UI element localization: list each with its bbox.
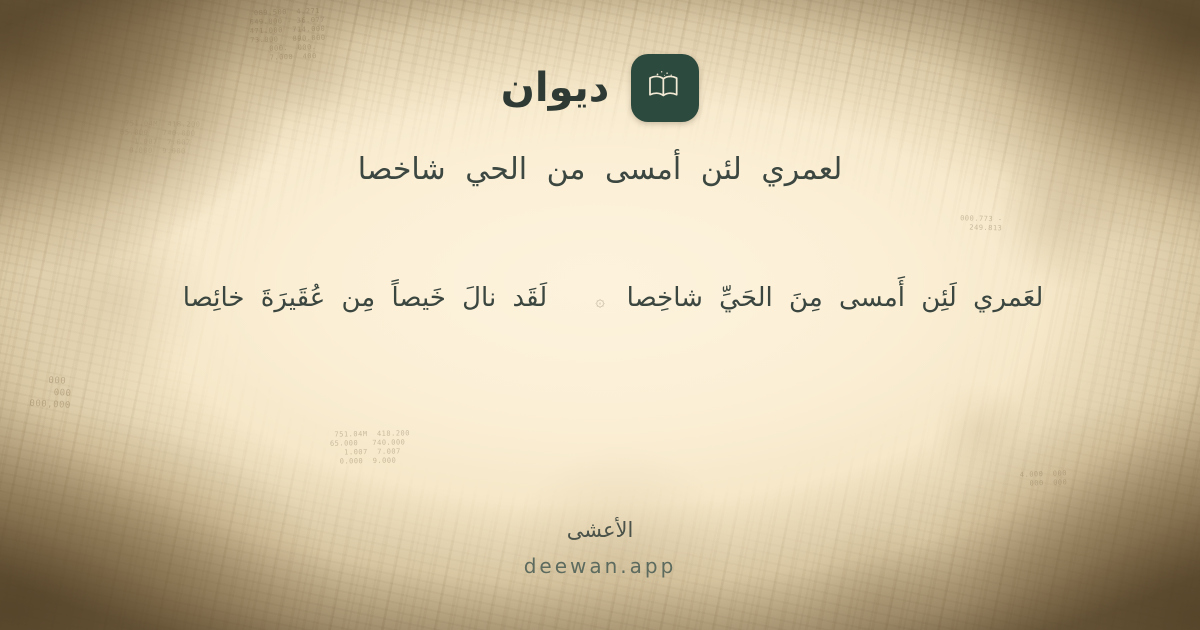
card-content: ديوان — [0, 0, 1200, 630]
page-title: لعمري لئن أمسى من الحي شاخصا — [358, 152, 843, 187]
brand[interactable]: ديوان — [501, 54, 699, 122]
brand-name: ديوان — [501, 68, 609, 108]
poet-name: الأعشى — [0, 518, 1200, 542]
verse: لعَمري لَئِن أَمسى مِنَ الحَيِّ شاخِصا ۞… — [0, 283, 1200, 313]
verse-separator: ۞ — [580, 291, 620, 310]
app-logo[interactable] — [631, 54, 699, 122]
card-footer: الأعشى deewan.app — [0, 518, 1200, 578]
poem-card: 4.271 089.500 36.077 - 649.000 714.000 4… — [0, 0, 1200, 630]
verse-hemistich-first: لعَمري لَئِن أَمسى مِنَ الحَيِّ شاخِصا — [620, 283, 1050, 313]
open-book-icon — [645, 66, 685, 110]
site-url[interactable]: deewan.app — [0, 554, 1200, 578]
verse-hemistich-second: لَقَد نالَ خَيصاً مِن عُقَيرَةَ خائِصا — [150, 283, 580, 313]
